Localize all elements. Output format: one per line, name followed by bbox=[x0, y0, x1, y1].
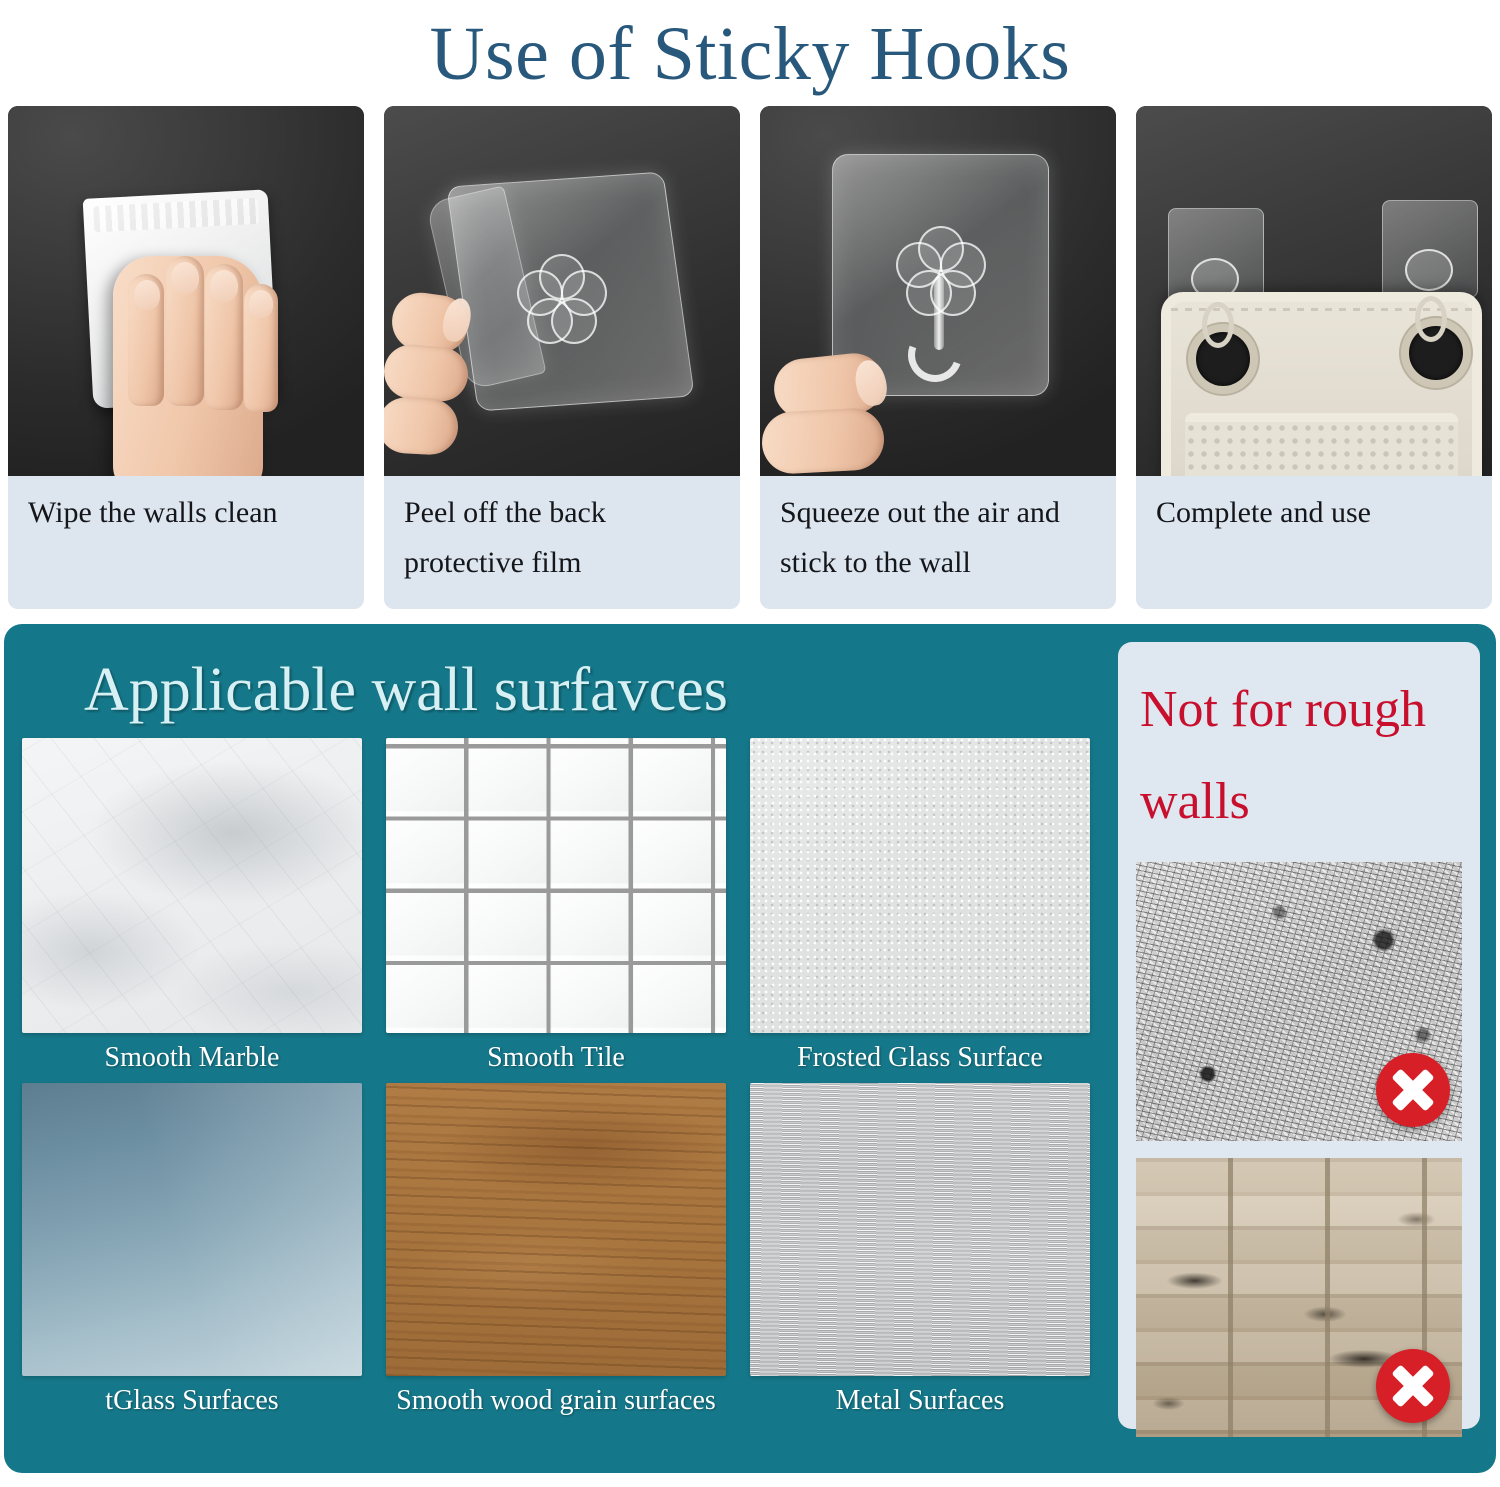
surface-cell-wood: Smooth wood grain surfaces bbox=[386, 1083, 738, 1428]
surface-grid: Smooth Marble Smooth Tile Frosted Glass … bbox=[22, 738, 1100, 1428]
wood-swatch bbox=[386, 1083, 726, 1376]
fingernail-icon bbox=[171, 262, 199, 294]
not-for-rough-walls-panel: Not for rough walls bbox=[1118, 642, 1480, 1429]
surface-label: tGlass Surfaces bbox=[22, 1376, 362, 1426]
rough-brick-photo bbox=[1136, 1158, 1462, 1437]
surface-cell-metal: Metal Surfaces bbox=[750, 1083, 1102, 1428]
step-photo-complete bbox=[1136, 106, 1492, 476]
surface-label: Smooth wood grain surfaces bbox=[386, 1376, 726, 1426]
step-caption: Complete and use bbox=[1136, 476, 1492, 609]
tile-swatch bbox=[386, 738, 726, 1033]
surface-label: Frosted Glass Surface bbox=[750, 1033, 1090, 1083]
surface-label: Smooth Marble bbox=[22, 1033, 362, 1083]
step-card-3: Squeeze out the air and stick to the wal… bbox=[760, 106, 1116, 609]
step-caption: Squeeze out the air and stick to the wal… bbox=[760, 476, 1116, 609]
glass-swatch bbox=[22, 1083, 362, 1376]
step-card-4: Complete and use bbox=[1136, 106, 1492, 609]
surface-label: Smooth Tile bbox=[386, 1033, 726, 1083]
hook-ring-icon bbox=[1202, 302, 1234, 348]
hook-ring-icon bbox=[1415, 296, 1447, 342]
frosted-glass-swatch bbox=[750, 738, 1090, 1033]
surface-cell-frosted-glass: Frosted Glass Surface bbox=[750, 738, 1102, 1083]
step-caption: Peel off the back protective film bbox=[384, 476, 740, 609]
rough-concrete-photo bbox=[1136, 862, 1462, 1141]
flower-mount-icon bbox=[1405, 249, 1453, 291]
finger-icon bbox=[760, 407, 885, 475]
step-photo-peel-film bbox=[384, 106, 740, 476]
applicable-surfaces-panel: Applicable wall surfavces Smooth Marble … bbox=[4, 624, 1496, 1473]
surface-cell-tile: Smooth Tile bbox=[386, 738, 738, 1083]
marble-swatch bbox=[22, 738, 362, 1033]
fingernail-icon bbox=[249, 290, 273, 318]
surface-cell-marble: Smooth Marble bbox=[22, 738, 374, 1083]
surface-label: Metal Surfaces bbox=[750, 1376, 1090, 1426]
warning-title: Not for rough walls bbox=[1140, 664, 1462, 848]
x-mark-icon bbox=[1376, 1053, 1450, 1127]
fingernail-icon bbox=[210, 270, 238, 302]
metal-swatch bbox=[750, 1083, 1090, 1376]
panel-heading: Applicable wall surfavces bbox=[22, 642, 1100, 738]
fingernail-icon bbox=[134, 280, 160, 310]
surface-cell-glass: tGlass Surfaces bbox=[22, 1083, 374, 1428]
step-card-2: Peel off the back protective film bbox=[384, 106, 740, 609]
step-photo-wipe-wall bbox=[8, 106, 364, 476]
surfaces-column: Applicable wall surfavces Smooth Marble … bbox=[22, 642, 1100, 1473]
step-caption: Wipe the walls clean bbox=[8, 476, 364, 609]
flower-mount-icon bbox=[517, 254, 603, 340]
x-mark-icon bbox=[1376, 1349, 1450, 1423]
step-card-1: Wipe the walls clean bbox=[8, 106, 364, 609]
step-photo-press-hook bbox=[760, 106, 1116, 476]
finger-icon bbox=[384, 396, 459, 456]
steps-strip: Wipe the walls clean Peel off the back p… bbox=[0, 106, 1500, 609]
page-title: Use of Sticky Hooks bbox=[0, 0, 1500, 106]
